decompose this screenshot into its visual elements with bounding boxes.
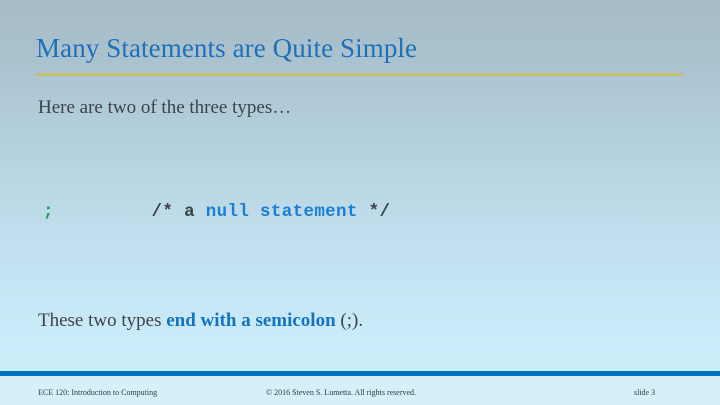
closing-text-before: These two types bbox=[38, 310, 166, 331]
footer-course-label: ECE 120: Introduction to Computing bbox=[38, 387, 157, 399]
code-token-gap bbox=[54, 202, 152, 222]
intro-text: Here are two of the three types… bbox=[38, 96, 291, 120]
closing-text-after: (;). bbox=[336, 310, 363, 331]
closing-text: These two types end with a semicolon (;)… bbox=[38, 309, 363, 333]
title-underline-rule bbox=[36, 73, 683, 76]
page-title: Many Statements are Quite Simple bbox=[36, 31, 696, 65]
footer-copyright: © 2016 Steven S. Lumetta. All rights res… bbox=[266, 387, 416, 399]
code-token-comment-close: */ bbox=[358, 202, 391, 222]
code-token-comment-open: /* a bbox=[152, 202, 206, 222]
code-block: ; /* a null statement */ /* A simple sta… bbox=[43, 126, 401, 405]
code-token-null-statement: null statement bbox=[206, 202, 358, 222]
code-line-null-statement: ; /* a null statement */ bbox=[43, 200, 401, 225]
code-token-semicolon: ; bbox=[43, 202, 54, 222]
slide-canvas: Many Statements are Quite Simple Here ar… bbox=[0, 0, 720, 405]
closing-text-emphasis: end with a semicolon bbox=[166, 310, 335, 331]
footer-slide-number: slide 3 bbox=[634, 387, 655, 399]
